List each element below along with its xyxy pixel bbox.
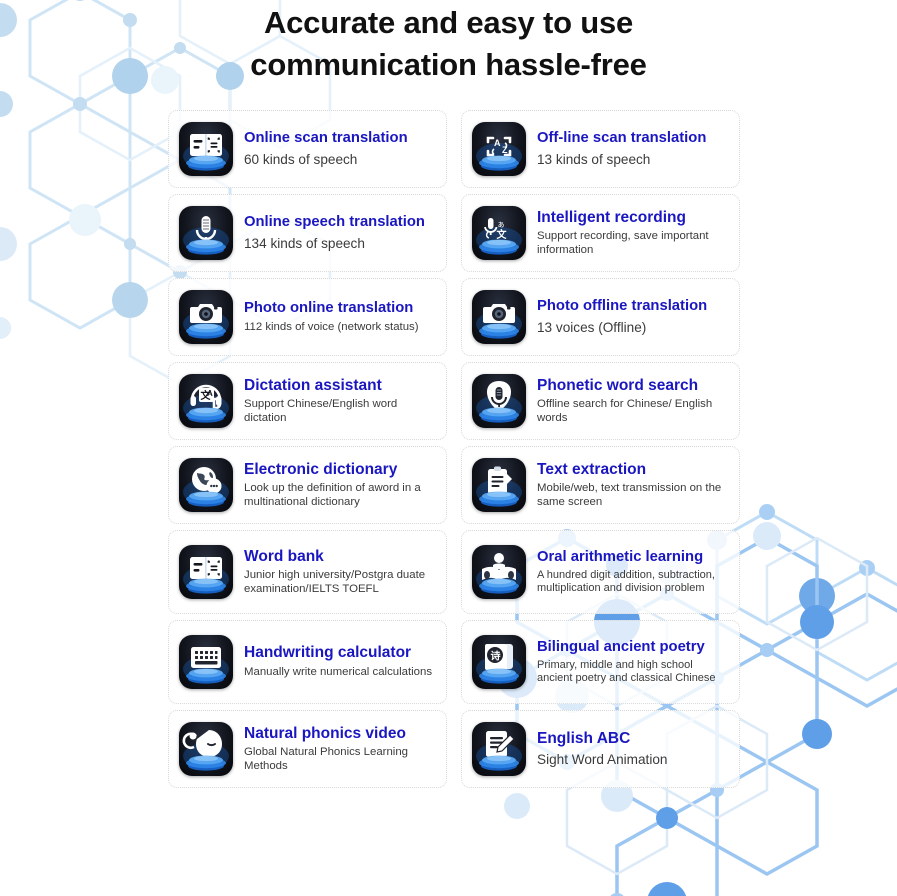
svg-text:A: A [207,389,213,398]
reading-person-icon [472,545,526,599]
clipboard-icon [472,458,526,512]
feature-card-subtitle: Look up the definition of aword in a mul… [244,482,438,509]
feature-card-natural-phonics-video[interactable]: Natural phonics videoGlobal Natural Phon… [168,710,447,788]
feature-card-word-bank[interactable]: Word bankJunior high university/Postgra … [168,530,447,614]
camera-icon [179,290,233,344]
microphone-icon [179,206,233,260]
feature-card-title: Bilingual ancient poetry [537,639,731,657]
feature-row: Online speech translation134 kinds of sp… [168,194,748,272]
feature-row: Photo online translation112 kinds of voi… [168,278,748,356]
svg-text:A: A [494,138,501,148]
headphones-translate-icon: 文 A [179,374,233,428]
feature-card-subtitle: Support recording, save important inform… [537,230,731,257]
feature-card-subtitle: A hundred digit addition, subtraction, m… [537,569,731,595]
feature-card-subtitle: 13 voices (Offline) [537,319,707,336]
feature-card-online-scan-translation[interactable]: Online scan translation60 kinds of speec… [168,110,447,188]
feature-card-intelligent-recording[interactable]: ぁ 文 Intelligent recordingSupport recordi… [461,194,740,272]
feature-card-subtitle: Mobile/web, text transmission on the sam… [537,482,731,509]
feature-card-subtitle: Junior high university/Postgra duate exa… [244,569,438,596]
feature-card-text: Online scan translation60 kinds of speec… [244,130,408,168]
feature-card-subtitle: Offline search for Chinese/ English word… [537,398,731,425]
svg-text:诗: 诗 [491,650,501,663]
feature-card-off-line-scan-translation[interactable]: A Z Off-line scan translation13 kinds of… [461,110,740,188]
feature-card-text: Oral arithmetic learningA hundred digit … [537,549,731,596]
feature-card-title: Online speech translation [244,214,425,232]
feature-card-text: Dictation assistantSupport Chinese/Engli… [244,377,438,426]
feature-card-title: Off-line scan translation [537,130,706,148]
feature-card-title: Oral arithmetic learning [537,549,731,567]
feature-card-title: Text extraction [537,461,731,480]
feature-card-title: Phonetic word search [537,377,731,396]
poetry-scroll-icon: 诗 [472,635,526,689]
feature-card-title: English ABC [537,730,667,749]
feature-row: Word bankJunior high university/Postgra … [168,530,748,614]
feature-card-text: Photo online translation112 kinds of voi… [244,300,419,334]
feature-card-text: English ABCSight Word Animation [537,730,667,769]
mic-translate-icon: ぁ 文 [472,206,526,260]
feature-card-text-extraction[interactable]: Text extractionMobile/web, text transmis… [461,446,740,524]
feature-card-dictation-assistant[interactable]: 文 A Dictation assistantSupport Chinese/E… [168,362,447,440]
scan-card-icon [179,122,233,176]
feature-row: 文 A Dictation assistantSupport Chinese/E… [168,362,748,440]
globe-chat-icon [179,458,233,512]
scan-frame-az-icon: A Z [472,122,526,176]
scan-card-icon [179,545,233,599]
feature-card-subtitle: 134 kinds of speech [244,235,425,252]
feature-card-text: Electronic dictionaryLook up the definit… [244,461,438,510]
feature-card-text: Handwriting calculatorManually write num… [244,644,432,679]
page-title-line-2: communication hassle-free [0,44,897,86]
feature-row: Online scan translation60 kinds of speec… [168,110,748,188]
feature-card-text: Off-line scan translation13 kinds of spe… [537,130,706,168]
feature-card-title: Photo online translation [244,300,419,318]
feature-card-title: Word bank [244,548,438,567]
feature-card-subtitle: Sight Word Animation [537,751,667,768]
feature-card-subtitle: Support Chinese/English word dictation [244,398,438,425]
feature-card-title: Handwriting calculator [244,644,432,663]
feature-card-photo-offline-translation[interactable]: Photo offline translation13 voices (Offl… [461,278,740,356]
feature-card-title: Electronic dictionary [244,461,438,480]
feature-card-text: Text extractionMobile/web, text transmis… [537,461,731,510]
camera-icon [472,290,526,344]
feature-card-title: Photo offline translation [537,298,707,316]
feature-card-grid: Online scan translation60 kinds of speec… [168,110,748,794]
mic-badge-icon [472,374,526,428]
feature-card-photo-online-translation[interactable]: Photo online translation112 kinds of voi… [168,278,447,356]
keypad-icon [179,635,233,689]
feature-card-text: Bilingual ancient poetryPrimary, middle … [537,639,731,686]
feature-card-text: Photo offline translation13 voices (Offl… [537,298,707,336]
feature-card-text: Natural phonics videoGlobal Natural Phon… [244,725,438,774]
feature-row: Electronic dictionaryLook up the definit… [168,446,748,524]
feature-card-title: Natural phonics video [244,725,438,744]
feature-card-subtitle: 112 kinds of voice (network status) [244,321,419,335]
note-pencil-icon [472,722,526,776]
feature-card-subtitle: 13 kinds of speech [537,151,706,168]
feature-card-bilingual-ancient-poetry[interactable]: 诗 Bilingual ancient poetryPrimary, middl… [461,620,740,704]
feature-card-phonetic-word-search[interactable]: Phonetic word searchOffline search for C… [461,362,740,440]
feature-card-subtitle: Manually write numerical calculations [244,666,432,680]
feature-card-title: Dictation assistant [244,377,438,396]
feature-row: Handwriting calculatorManually write num… [168,620,748,704]
feature-card-text: Online speech translation134 kinds of sp… [244,214,425,252]
page-title: Accurate and easy to use communication h… [0,2,897,86]
feature-card-handwriting-calculator[interactable]: Handwriting calculatorManually write num… [168,620,447,704]
svg-text:文: 文 [497,228,508,241]
feature-card-english-abc[interactable]: English ABCSight Word Animation [461,710,740,788]
feature-card-subtitle: Primary, middle and high school ancient … [537,659,731,685]
phonics-face-icon [179,722,233,776]
feature-card-text: Phonetic word searchOffline search for C… [537,377,731,426]
feature-card-subtitle: Global Natural Phonics Learning Methods [244,746,438,773]
feature-card-title: Online scan translation [244,130,408,148]
page-title-line-1: Accurate and easy to use [0,2,897,44]
feature-card-online-speech-translation[interactable]: Online speech translation134 kinds of sp… [168,194,447,272]
feature-card-oral-arithmetic-learning[interactable]: Oral arithmetic learningA hundred digit … [461,530,740,614]
feature-card-title: Intelligent recording [537,209,731,228]
feature-card-text: Word bankJunior high university/Postgra … [244,548,438,597]
svg-text:ぁ: ぁ [497,220,505,229]
feature-card-electronic-dictionary[interactable]: Electronic dictionaryLook up the definit… [168,446,447,524]
feature-overview-page: Accurate and easy to use communication h… [0,0,897,896]
feature-row: Natural phonics videoGlobal Natural Phon… [168,710,748,788]
feature-card-text: Intelligent recordingSupport recording, … [537,209,731,258]
feature-card-subtitle: 60 kinds of speech [244,151,408,168]
